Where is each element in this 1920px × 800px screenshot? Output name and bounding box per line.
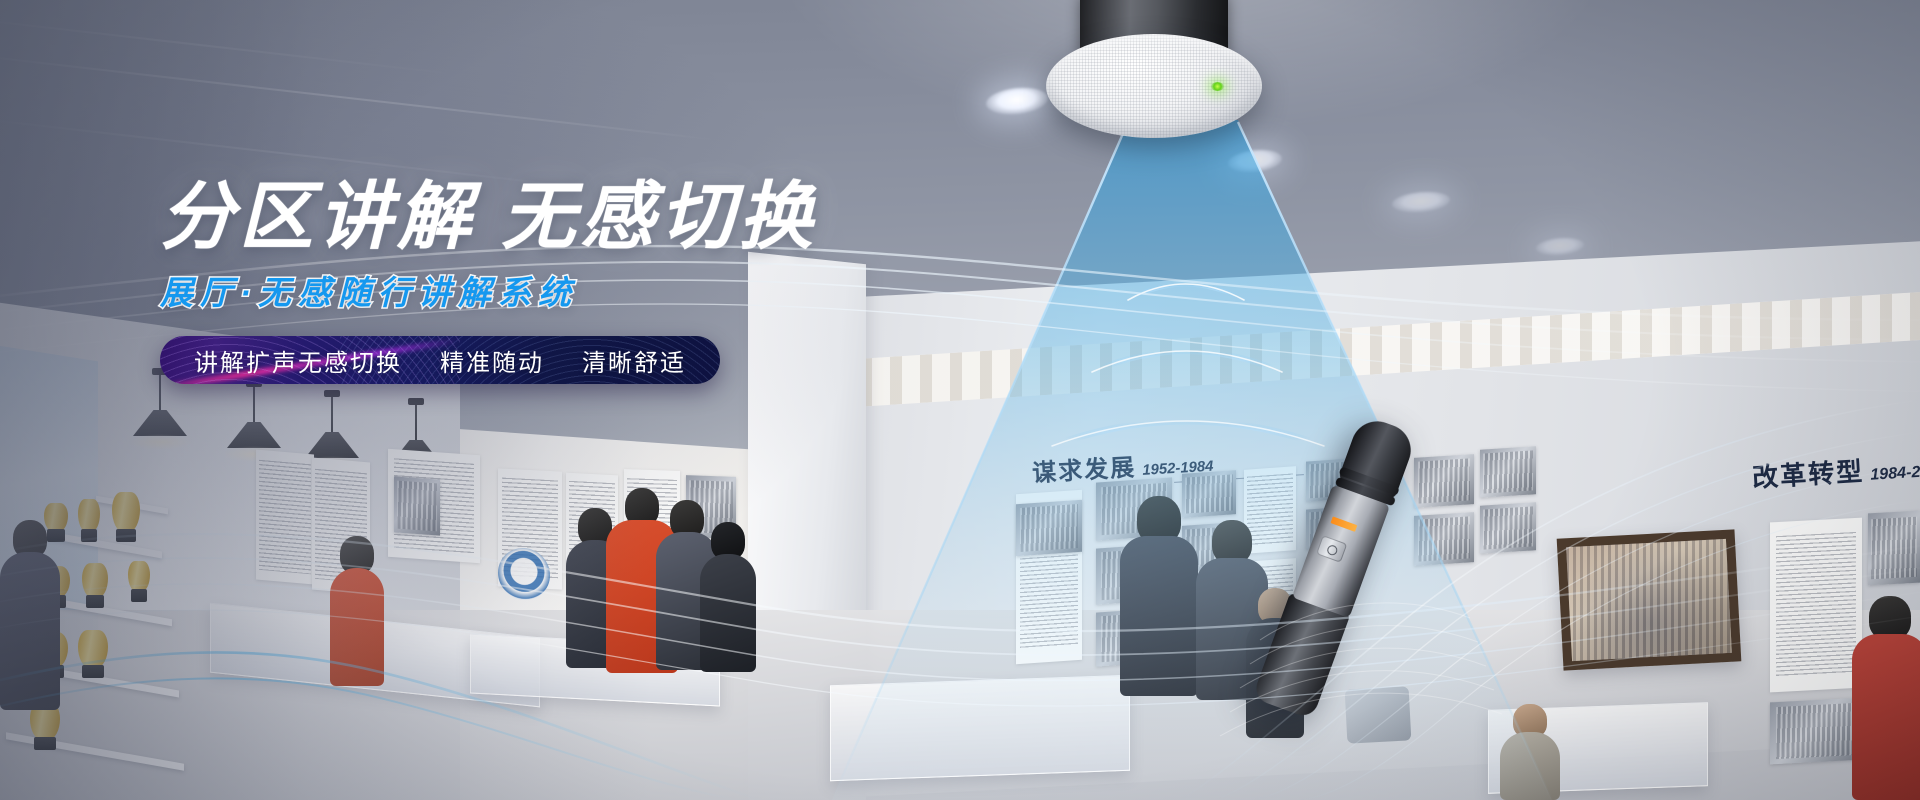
wall-sign-text: 改革转型 bbox=[1751, 456, 1865, 493]
exhibition-photo bbox=[1868, 511, 1920, 586]
speaker-grille bbox=[1046, 34, 1262, 138]
exhibition-photo bbox=[1480, 446, 1536, 498]
feature-badge-bar: 讲解扩声无感切换 精准随动 清晰舒适 bbox=[160, 336, 720, 384]
visitor bbox=[330, 536, 384, 686]
exhibition-photo bbox=[1770, 698, 1862, 765]
exhibit-artifact bbox=[1345, 686, 1412, 743]
trophy-icon bbox=[128, 552, 150, 602]
trophy-icon bbox=[112, 478, 140, 542]
exhibition-photo bbox=[1414, 512, 1474, 566]
feature-label-2: 精准随动 bbox=[440, 343, 544, 378]
page-subtitle: 展厅·无感随行讲解系统 bbox=[160, 266, 818, 314]
feature-label-1: 讲解扩声无感切换 bbox=[194, 343, 402, 378]
ceiling-speaker bbox=[1046, 0, 1296, 150]
visitor bbox=[700, 522, 756, 672]
headline-block: 分区讲解 无感切换 展厅·无感随行讲解系统 讲解扩声无感切换 精准随动 清晰舒适 bbox=[160, 178, 818, 384]
trophy-icon bbox=[82, 552, 108, 608]
trophy-icon bbox=[78, 488, 100, 542]
display-case bbox=[830, 675, 1130, 781]
exhibition-photo bbox=[394, 476, 440, 535]
visitor bbox=[1852, 596, 1920, 800]
visitor bbox=[1120, 496, 1198, 696]
visitor bbox=[0, 520, 60, 710]
visitor bbox=[1500, 704, 1560, 800]
exhibition-photo bbox=[1016, 500, 1082, 557]
exhibition-hall-scene: 谋求发展1952-1984 改革转型1984-2010 bbox=[0, 0, 1920, 800]
page-title: 分区讲解 无感切换 bbox=[160, 178, 818, 256]
hero-banner: 谋求发展1952-1984 改革转型1984-2010 bbox=[0, 0, 1920, 800]
exhibition-panel bbox=[1770, 518, 1862, 693]
exhibition-photo bbox=[1480, 502, 1536, 554]
exhibition-panel bbox=[256, 449, 314, 584]
trophy-icon bbox=[78, 616, 108, 678]
speaker-status-led-icon bbox=[1211, 82, 1224, 91]
wall-sign-era: 1984-2010 bbox=[1870, 461, 1920, 484]
feature-label-3: 清晰舒适 bbox=[582, 343, 686, 378]
framed-artwork bbox=[1557, 529, 1742, 670]
